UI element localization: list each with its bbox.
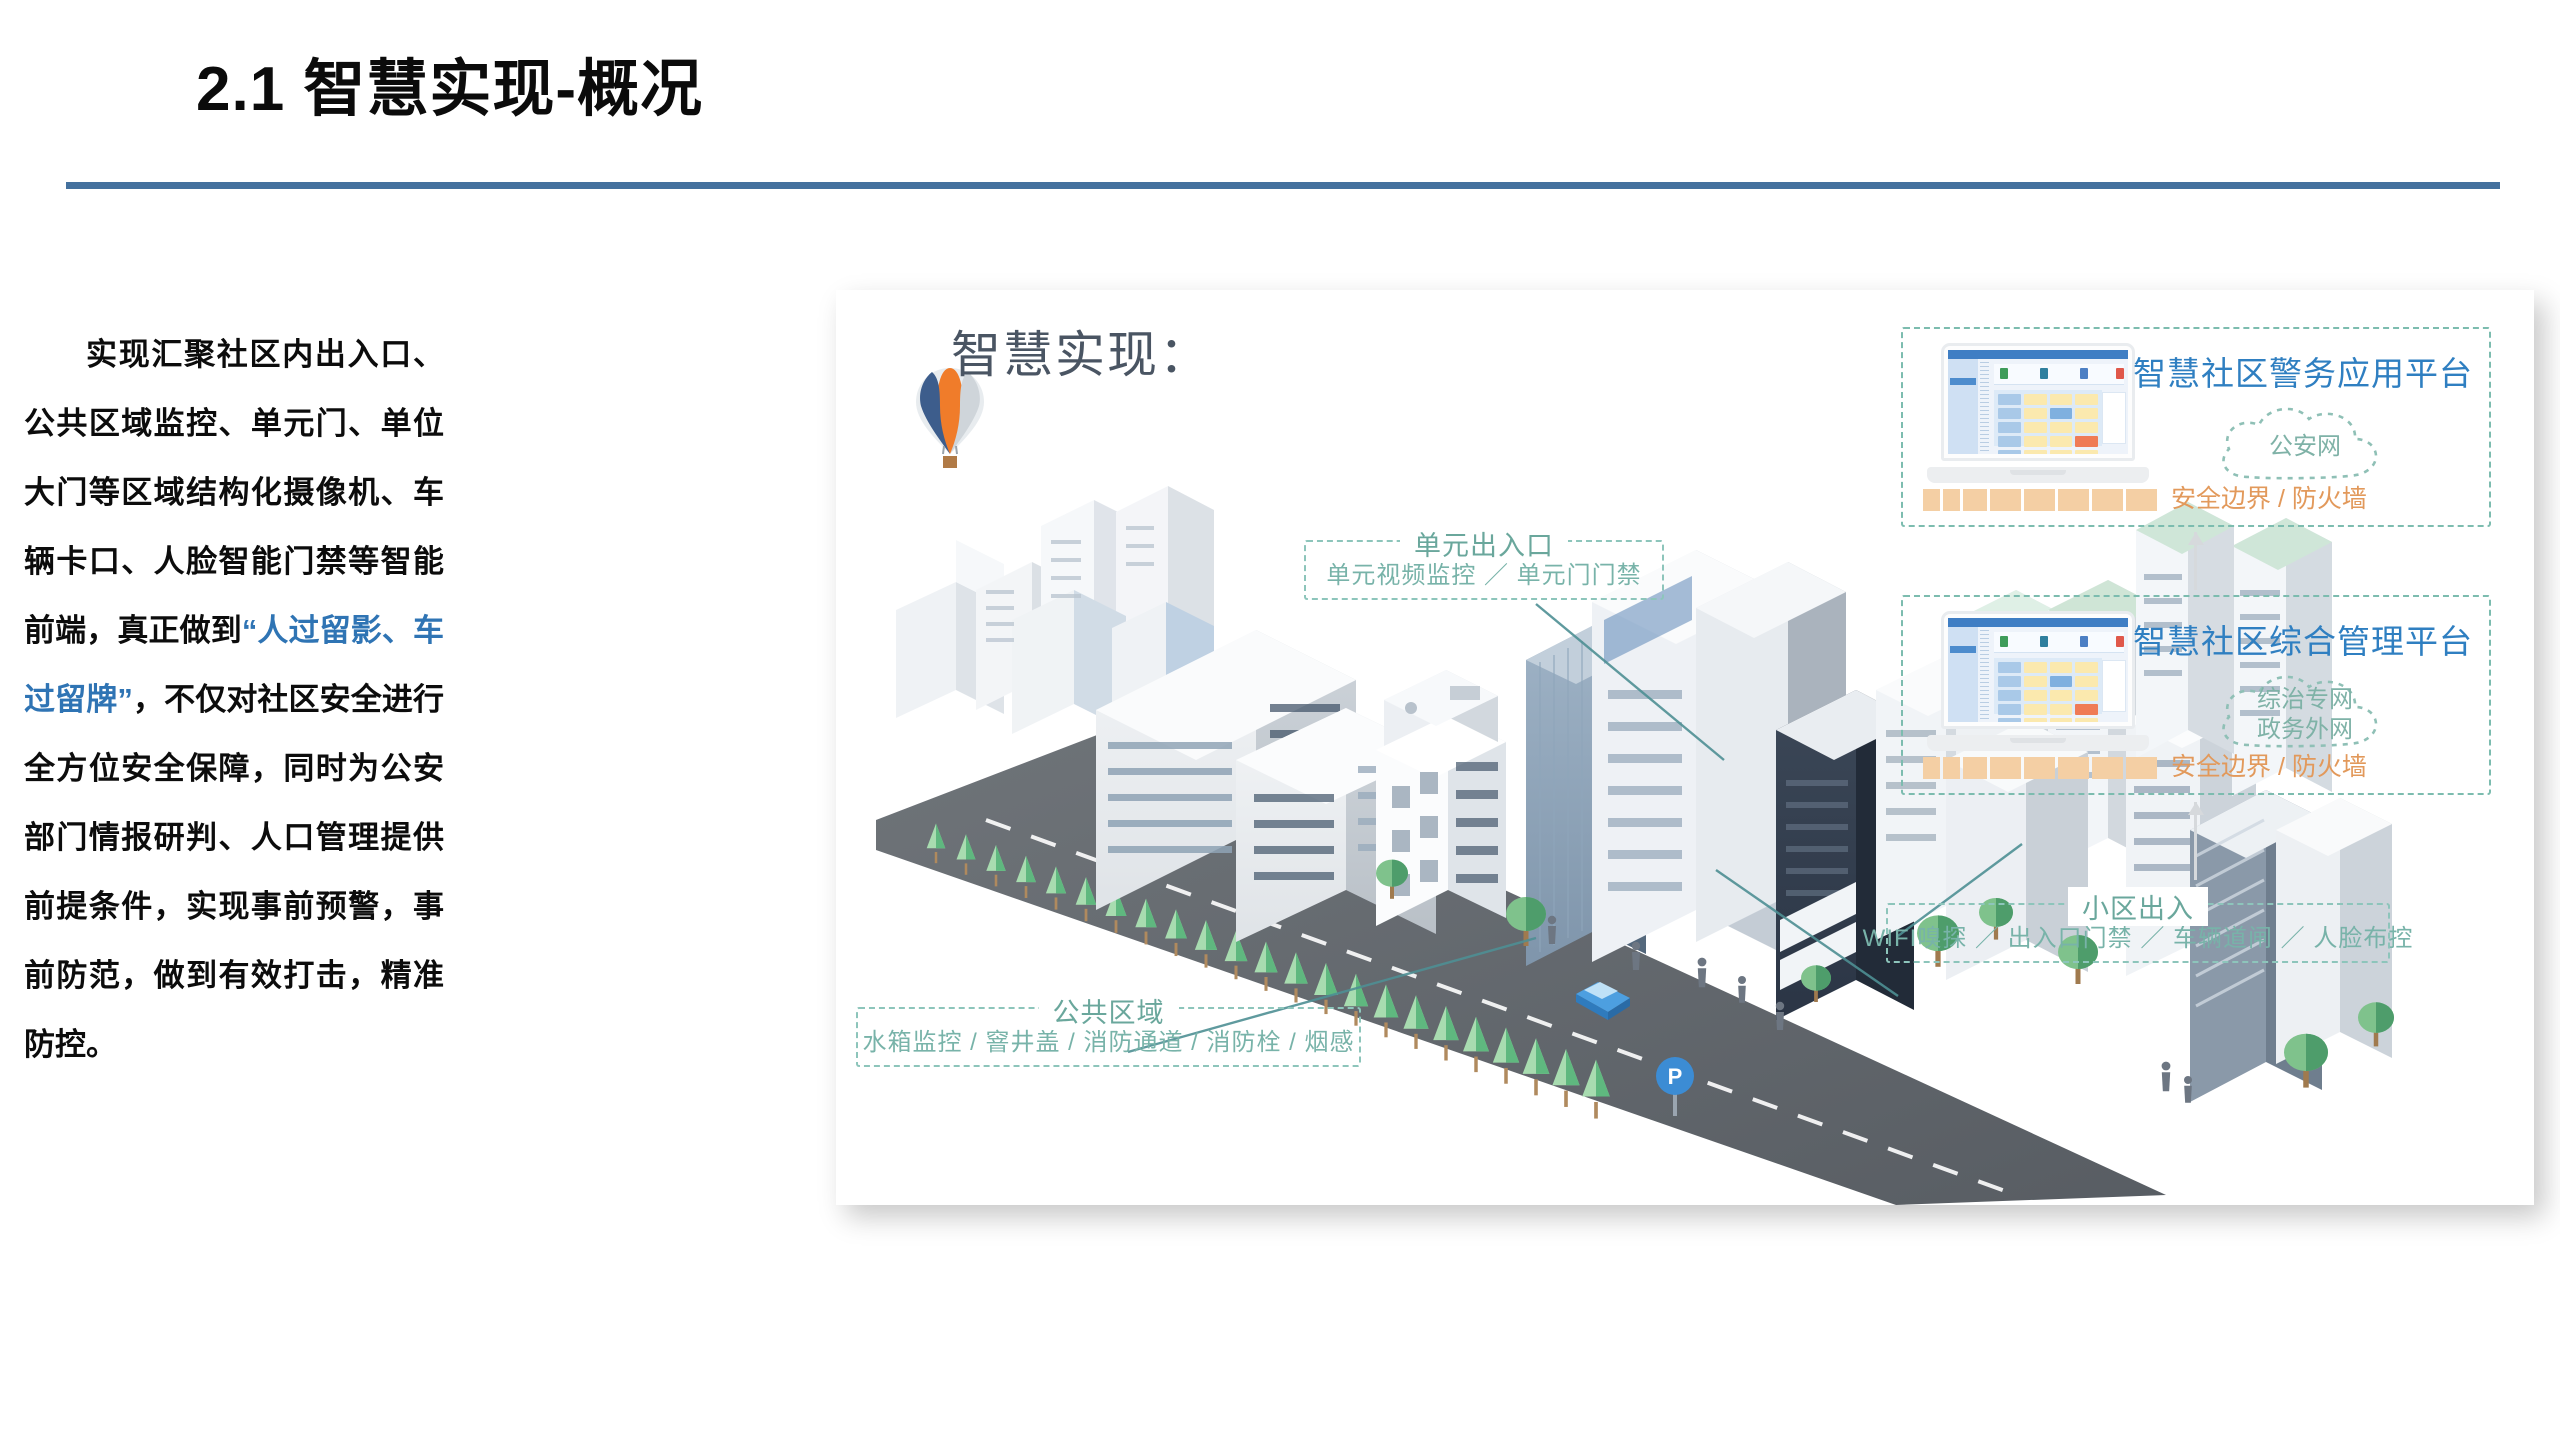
laptop-icon-management [1927,611,2149,751]
callout-estate-entrance: WIFI嗅探 ／ 出入口门禁 ／ 车辆道闸 ／ 人脸布控 小区出入 [1886,903,2390,963]
car-icon [1576,982,1630,1020]
callout-unit-entrance-caption: 单元出入口 [1400,524,1568,563]
platform-police: 智慧社区警务应用平台 公安网 安全边界 / 防火墙 [1901,327,2491,527]
parking-sign-icon: P [1656,1057,1694,1116]
firewall-label-police: 安全边界 / 防火墙 [2171,479,2367,515]
title-divider [66,182,2500,189]
diagram-card: P 智慧实现： 单元视频监控 ／ 单元门门禁 单元出入口 [836,290,2534,1205]
platform-police-title: 智慧社区警务应用平台 [2133,347,2473,395]
firewall-bar-police [1923,489,2157,511]
paragraph-tail: ，不仅对社区安全进行全方位安全保障，同时为公安部门情报研判、人口管理提供前提条件… [24,682,444,1062]
platform-management: 智慧社区综合管理平台 综治专网 政务外网 安全边界 / 防火墙 [1901,595,2491,795]
paragraph-lead: 实现汇聚社区内出入口、公共区域监控、单元门、单位大门等区域结构化摄像机、车辆卡口… [24,337,444,648]
callout-unit-entrance: 单元视频监控 ／ 单元门门禁 单元出入口 [1304,540,1664,600]
cloud-management-line-2: 政务外网 [2257,715,2353,745]
cloud-police-line-1: 公安网 [2269,432,2341,462]
firewall-label-management: 安全边界 / 防火墙 [2171,747,2367,783]
body-paragraph: 实现汇聚社区内出入口、公共区域监控、单元门、单位大门等区域结构化摄像机、车辆卡口… [24,320,444,1079]
callout-public-area: 水箱监控 / 窨井盖 / 消防通道 / 消防栓 / 烟感 公共区域 [856,1007,1361,1067]
flow-arrow-lower [2194,802,2197,880]
svg-text:P: P [1668,1064,1683,1089]
page-title: 2.1 智慧实现-概况 [196,38,703,128]
flow-arrow-upper [2194,532,2197,590]
firewall-bar-management [1923,757,2157,779]
platform-management-title: 智慧社区综合管理平台 [2133,615,2473,663]
cloud-management-line-1: 综治专网 [2257,685,2353,715]
callout-estate-entrance-caption: 小区出入 [2068,887,2208,926]
laptop-icon-police [1927,343,2149,483]
diagram-title: 智慧实现： [951,315,1211,387]
callout-public-area-caption: 公共区域 [1039,991,1179,1030]
